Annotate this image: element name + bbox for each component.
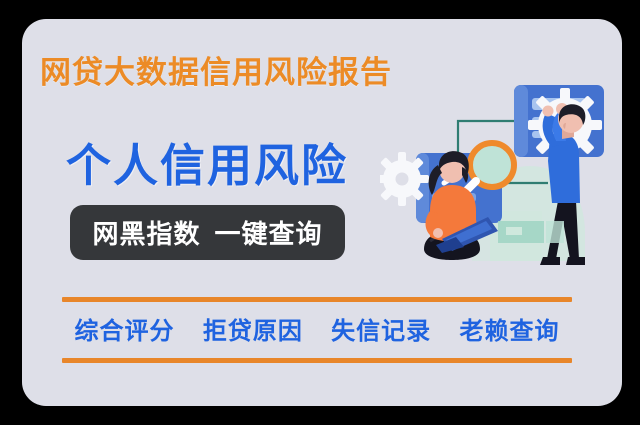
poster-canvas: 网贷大数据信用风险报告 个人信用风险 网黑指数 一键查询 综合评分 拒贷原因 失… [0,0,640,425]
feature-item-3: 失信记录 [331,318,431,345]
hero-illustration [380,61,622,296]
feature-list: 综合评分 拒贷原因 失信记录 老赖查询 [62,311,572,346]
feature-item-4: 老赖查询 [460,318,560,345]
cta-right-label: 一键查询 [215,214,323,251]
divider-bottom [62,358,572,363]
feature-item-1: 综合评分 [74,318,174,345]
page-subtitle: 个人信用风险 [66,129,348,194]
query-cta-button[interactable]: 网黑指数 一键查询 [70,205,345,260]
page-title: 网贷大数据信用风险报告 [40,47,392,92]
cta-left-label: 网黑指数 [92,214,200,251]
divider-top [62,297,572,302]
mint-box-accents [498,221,564,243]
feature-item-2: 拒贷原因 [203,318,303,345]
poster-card: 网贷大数据信用风险报告 个人信用风险 网黑指数 一键查询 综合评分 拒贷原因 失… [22,19,622,406]
